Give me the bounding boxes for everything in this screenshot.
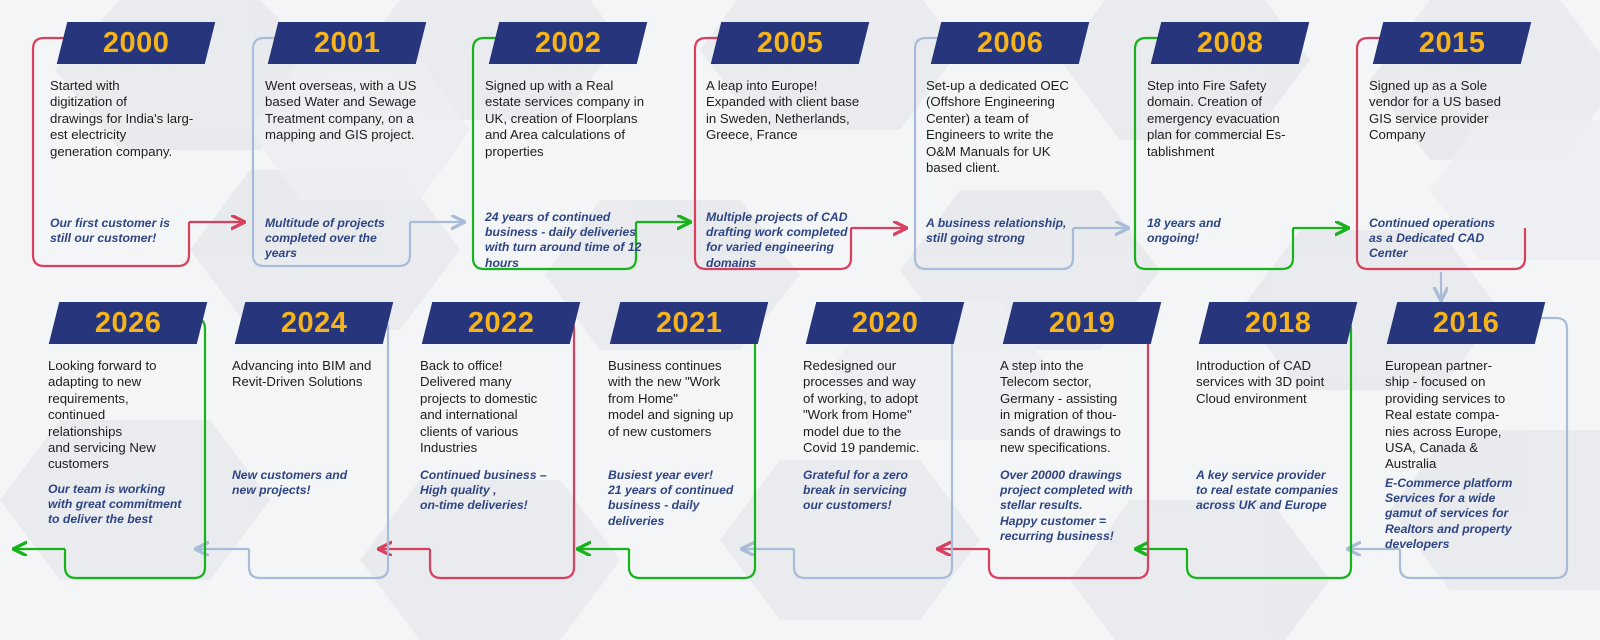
card-outline-2024	[196, 318, 388, 578]
year-banner-2000: 2000	[57, 22, 215, 64]
card-description: Redesigned our processes and way of work…	[803, 358, 971, 456]
card-note: Grateful for a zero break in servicing o…	[803, 468, 968, 514]
card-description: Signed up as a Sole vendor for a US base…	[1369, 78, 1561, 144]
year-banner-2005: 2005	[711, 22, 869, 64]
year-banner-2021: 2021	[610, 302, 768, 344]
year-label: 2006	[977, 29, 1044, 58]
card-description: Set-up a dedicated OEC (Offshore Enginee…	[926, 78, 1111, 176]
card-note: 18 years and ongoing!	[1147, 216, 1317, 246]
year-banner-2024: 2024	[235, 302, 393, 344]
year-banner-2006: 2006	[931, 22, 1089, 64]
year-label: 2016	[1433, 309, 1500, 338]
card-note: Continued operations as a Dedicated CAD …	[1369, 216, 1549, 262]
year-label: 2002	[535, 29, 602, 58]
year-banner-2026: 2026	[49, 302, 207, 344]
card-description: Business continues with the new "Work fr…	[608, 358, 780, 440]
year-label: 2021	[656, 309, 723, 338]
year-label: 2008	[1197, 29, 1264, 58]
year-banner-2018: 2018	[1199, 302, 1357, 344]
year-label: 2024	[281, 309, 348, 338]
year-banner-2015: 2015	[1373, 22, 1531, 64]
card-note: 24 years of continued business - daily d…	[485, 210, 657, 271]
card-description: Step into Fire Safety domain. Creation o…	[1147, 78, 1327, 160]
card-note: Busiest year ever! 21 years of continued…	[608, 468, 780, 529]
card-note: Our team is working with great commitmen…	[48, 482, 228, 528]
year-label: 2019	[1049, 309, 1116, 338]
year-label: 2026	[95, 309, 162, 338]
card-note: Over 20000 drawings project completed wi…	[1000, 468, 1172, 544]
card-description: Looking forward to adapting to new requi…	[48, 358, 216, 473]
year-banner-2001: 2001	[268, 22, 426, 64]
card-description: A leap into Europe! Expanded with client…	[706, 78, 898, 144]
year-label: 2018	[1245, 309, 1312, 338]
year-label: 2005	[757, 29, 824, 58]
year-banner-2008: 2008	[1151, 22, 1309, 64]
year-banner-2020: 2020	[806, 302, 964, 344]
year-label: 2000	[103, 29, 170, 58]
card-description: Back to office! Delivered many projects …	[420, 358, 588, 456]
year-banner-2002: 2002	[489, 22, 647, 64]
card-description: Introduction of CAD services with 3D poi…	[1196, 358, 1376, 407]
year-banner-2019: 2019	[1003, 302, 1161, 344]
card-note: Multitude of projects completed over the…	[265, 216, 440, 262]
card-note: A business relationship, still going str…	[926, 216, 1098, 246]
card-description: Went overseas, with a US based Water and…	[265, 78, 455, 144]
card-note: New customers and new projects!	[232, 468, 402, 498]
year-banner-2022: 2022	[422, 302, 580, 344]
card-note: E-Commerce platform Services for a wide …	[1385, 476, 1557, 552]
card-note: Multiple projects of CAD drafting work c…	[706, 210, 876, 271]
card-description: Signed up with a Real estate services co…	[485, 78, 683, 160]
card-description: Advancing into BIM and Revit-Driven Solu…	[232, 358, 412, 391]
card-description: A step into the Telecom sector, Germany …	[1000, 358, 1168, 456]
year-banner-2016: 2016	[1387, 302, 1545, 344]
card-outline-2021	[578, 318, 755, 578]
card-description: Started with digitization of drawings fo…	[50, 78, 235, 160]
card-note: Continued business – High quality , on-t…	[420, 468, 590, 514]
year-label: 2015	[1419, 29, 1486, 58]
year-label: 2022	[468, 309, 535, 338]
year-label: 2020	[852, 309, 919, 338]
year-label: 2001	[314, 29, 381, 58]
card-note: A key service provider to real estate co…	[1196, 468, 1381, 514]
card-description: European partner- ship - focused on prov…	[1385, 358, 1553, 473]
timeline-infographic: 2000 Started with digitization of drawin…	[0, 0, 1600, 640]
card-note: Our first customer is still our customer…	[50, 216, 225, 246]
